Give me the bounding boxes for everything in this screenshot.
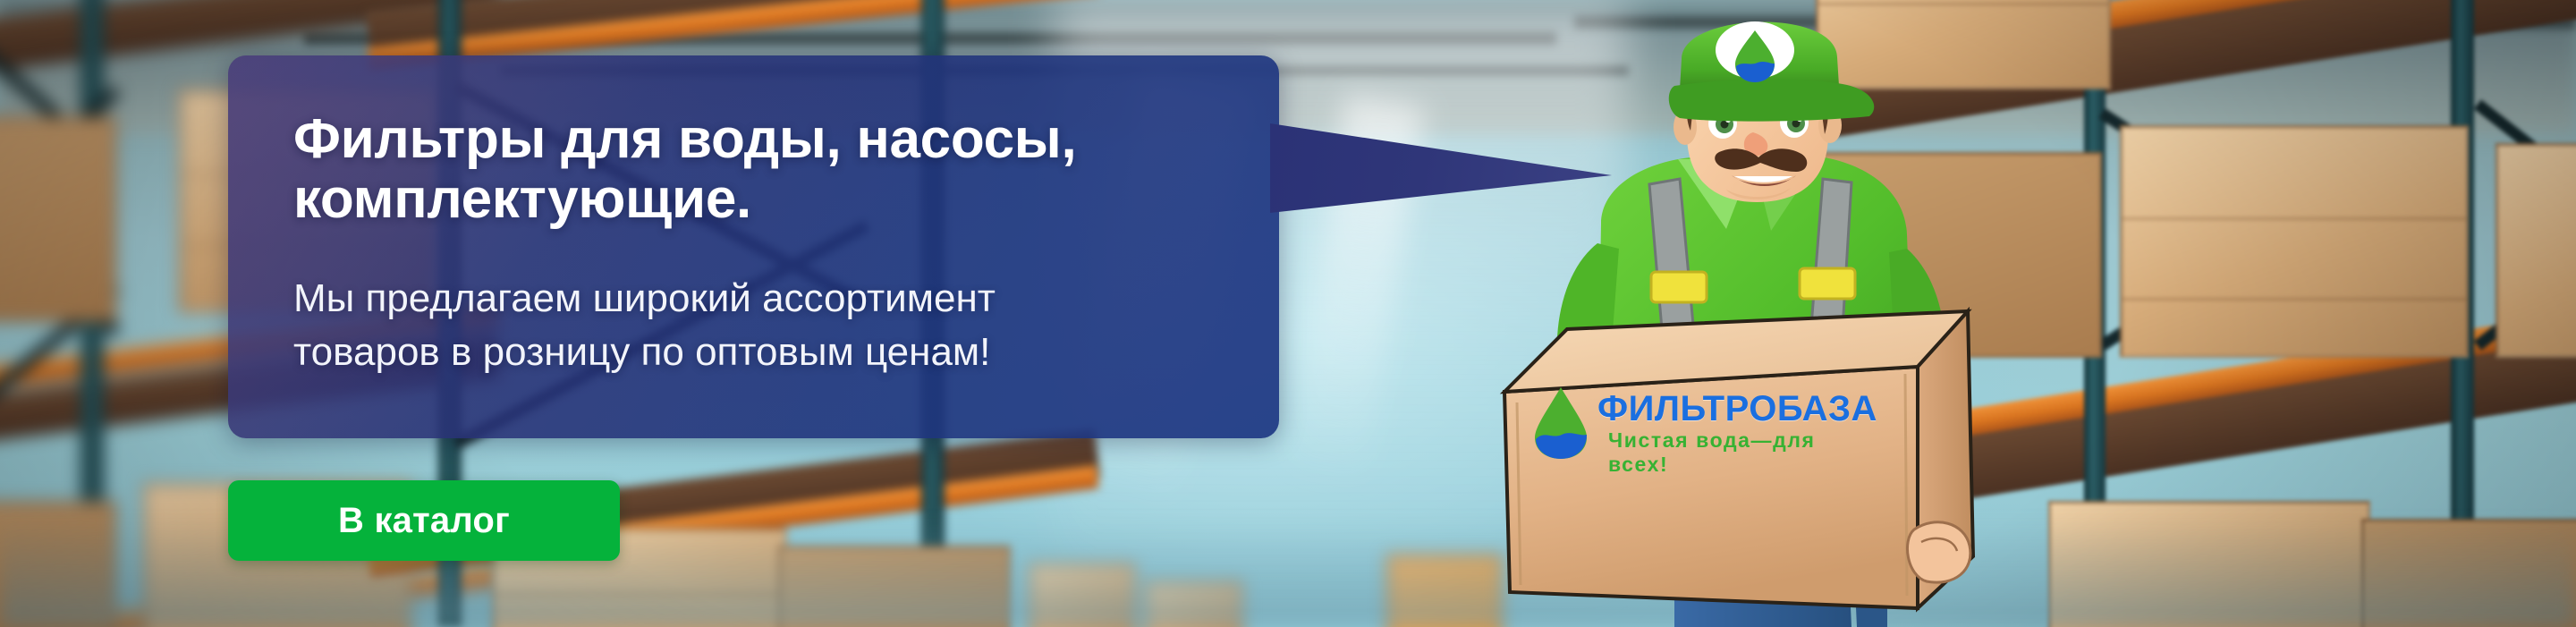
delivery-worker-illustration xyxy=(1467,9,2021,627)
page-title: Фильтры для воды, насосы, комплектующие. xyxy=(293,109,1216,229)
mascot-cap xyxy=(1669,21,1874,122)
catalog-button[interactable]: В каталог xyxy=(228,480,620,561)
mascot-hand-left xyxy=(1907,522,1970,582)
speech-bubble: Фильтры для воды, насосы, комплектующие.… xyxy=(228,55,1279,438)
promo-banner: Фильтры для воды, насосы, комплектующие.… xyxy=(0,0,2576,627)
cardboard-box xyxy=(1504,311,1973,608)
subtitle: Мы предлагаем широкий ассортимент товаро… xyxy=(293,272,1216,379)
bubble-content: Фильтры для воды, насосы, комплектующие.… xyxy=(228,55,1279,438)
